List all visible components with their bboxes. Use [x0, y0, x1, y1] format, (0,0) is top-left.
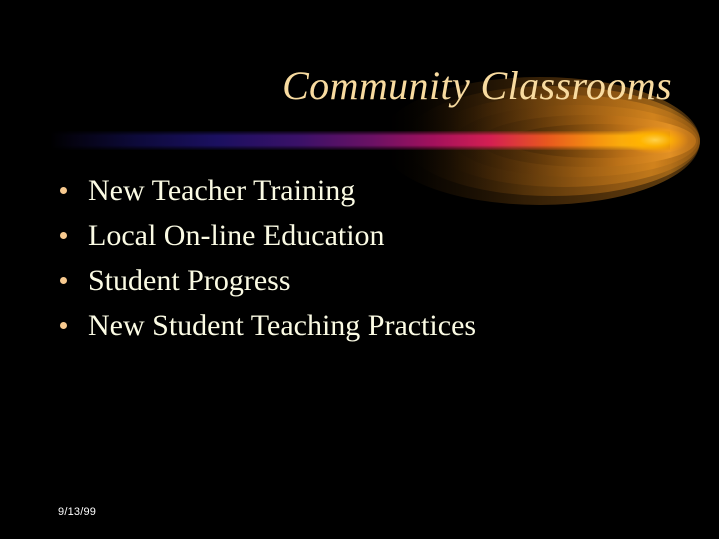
bullet-dot-icon [60, 322, 67, 329]
bullet-list: New Teacher Training Local On-line Educa… [56, 168, 676, 348]
list-item: Local On-line Education [56, 213, 676, 258]
list-item-label: Local On-line Education [88, 219, 385, 252]
bullet-dot-icon [60, 232, 67, 239]
flare-band-1 [480, 115, 696, 167]
bullet-dot-icon [60, 187, 67, 194]
bullet-dot-icon [60, 277, 67, 284]
footer-date: 9/13/99 [58, 505, 96, 519]
presentation-slide: Community Classrooms New Teacher Trainin… [0, 0, 719, 539]
flare-tip-glow [621, 126, 689, 154]
list-item: New Teacher Training [56, 168, 676, 213]
list-item: Student Progress [56, 258, 676, 303]
gradient-bar [50, 131, 670, 150]
list-item-label: New Teacher Training [88, 174, 355, 207]
list-item-label: Student Progress [88, 264, 291, 297]
flare-band-inner [508, 124, 692, 158]
flare-band-2 [454, 105, 698, 177]
slide-title: Community Classrooms [0, 63, 672, 109]
list-item-label: New Student Teaching Practices [88, 309, 476, 342]
list-item: New Student Teaching Practices [56, 303, 676, 348]
